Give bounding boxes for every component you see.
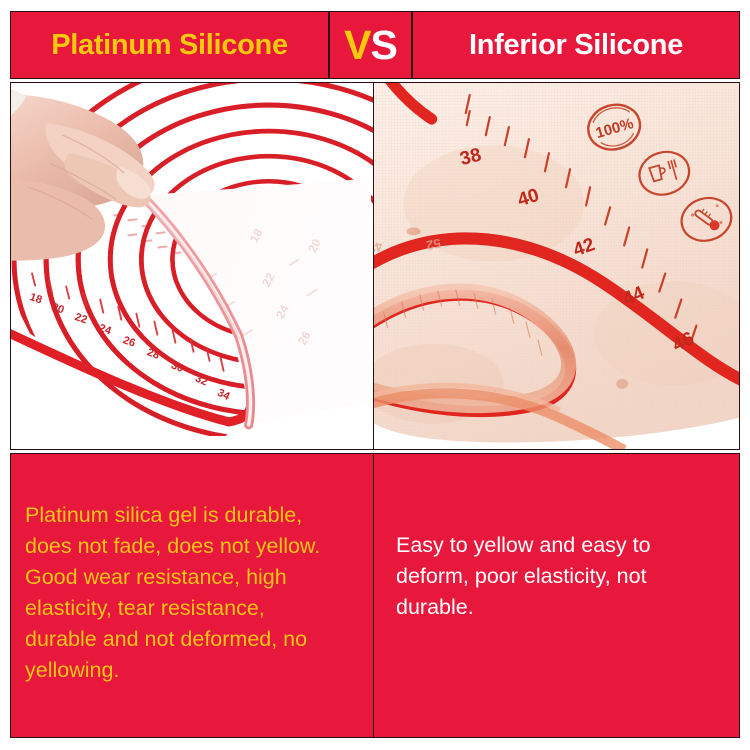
svg-text:52: 52 bbox=[425, 235, 442, 253]
vs-badge: VS bbox=[344, 25, 397, 66]
description-cell-inferior: Easy to yellow and easy to deform, poor … bbox=[374, 454, 739, 737]
header-label-inferior: Inferior Silicone bbox=[469, 31, 683, 60]
vs-letter-s: S bbox=[371, 22, 397, 68]
header-cell-vs: VS bbox=[328, 12, 413, 78]
photo-row: 18 20 22 24 26 28 30 32 34 bbox=[10, 82, 740, 450]
header-cell-platinum: Platinum Silicone bbox=[11, 12, 328, 78]
description-platinum: Platinum silica gel is durable, does not… bbox=[11, 454, 334, 686]
photo-inferior-silicone: 38 40 42 44 46 48 52 bbox=[374, 83, 739, 449]
description-row: Platinum silica gel is durable, does not… bbox=[10, 453, 740, 738]
description-inferior: Easy to yellow and easy to deform, poor … bbox=[374, 454, 665, 623]
header-cell-inferior: Inferior Silicone bbox=[413, 12, 739, 78]
platinum-mat-illustration: 18 20 22 24 26 28 30 32 34 bbox=[11, 83, 373, 449]
vs-letter-v: V bbox=[344, 22, 370, 68]
header-band: Platinum Silicone VS Inferior Silicone bbox=[10, 11, 740, 79]
comparison-infographic: Platinum Silicone VS Inferior Silicone bbox=[0, 0, 750, 750]
description-cell-platinum: Platinum silica gel is durable, does not… bbox=[11, 454, 374, 737]
inferior-mat-illustration: 38 40 42 44 46 48 52 bbox=[374, 83, 739, 449]
header-label-platinum: Platinum Silicone bbox=[51, 31, 288, 60]
photo-platinum-silicone: 18 20 22 24 26 28 30 32 34 bbox=[11, 83, 374, 449]
